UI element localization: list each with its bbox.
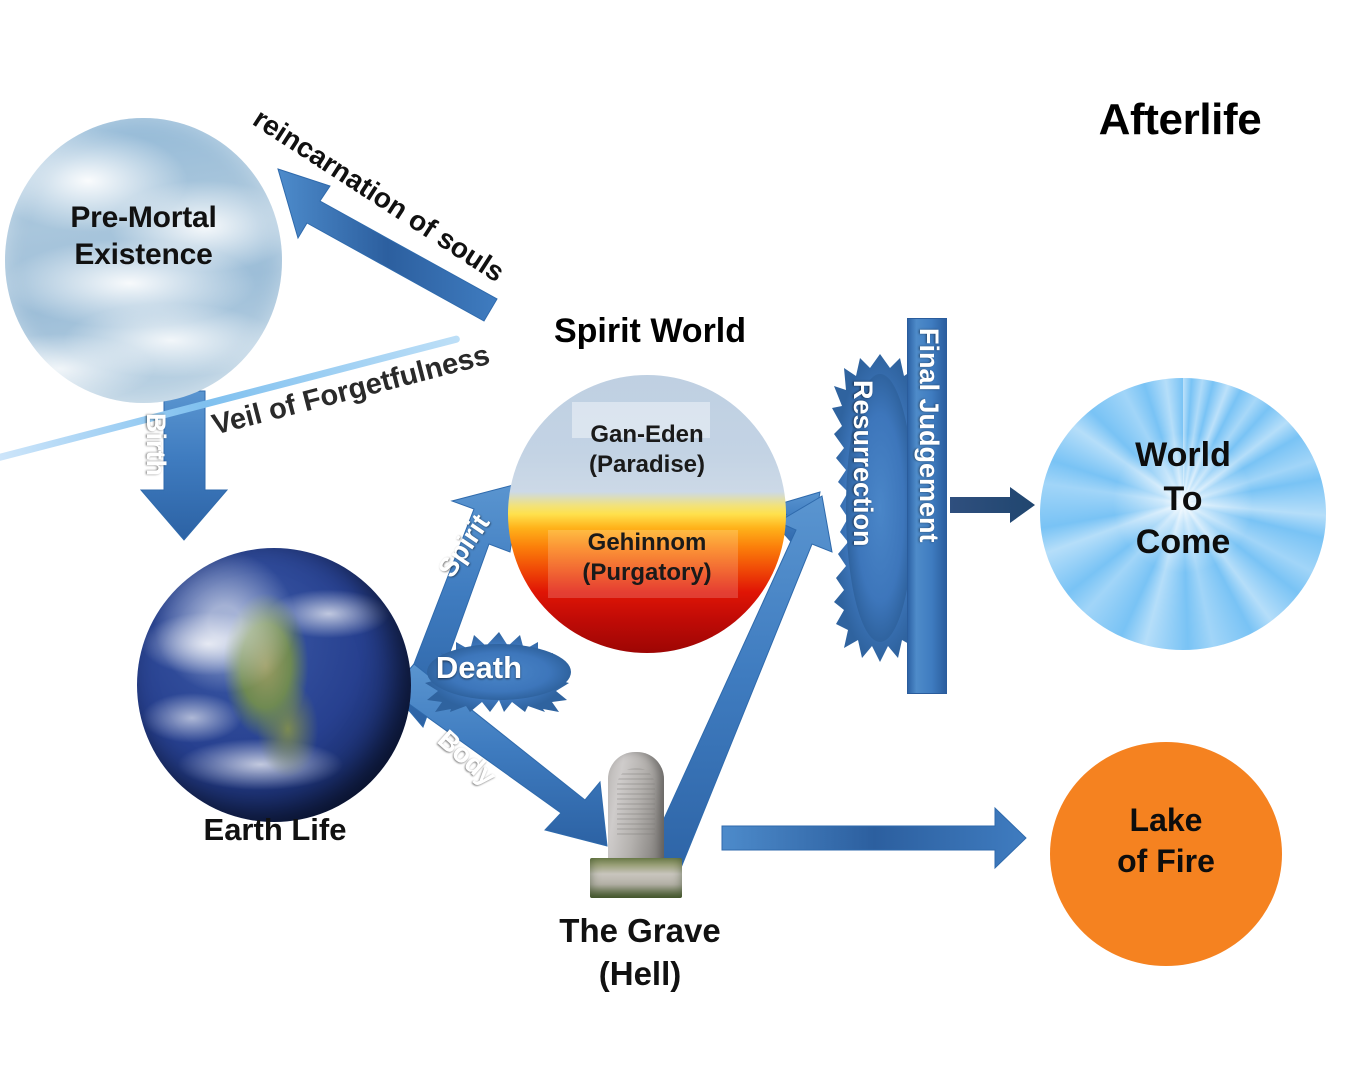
resurrection-label: Resurrection (847, 380, 878, 547)
grave-line-1: The Grave (559, 912, 720, 949)
gehinnom-label: Gehinnom (Purgatory) (527, 528, 767, 588)
world-to-come-label: World To Come (1040, 434, 1326, 565)
spirit-world-heading: Spirit World (470, 312, 830, 351)
world-to-come-line-1: World (1135, 436, 1231, 474)
earth-life-label: Earth Life (110, 812, 440, 848)
premortal-existence-label: Pre-Mortal Existence (5, 200, 282, 273)
gan-eden-label: Gan-Eden (Paradise) (527, 420, 767, 480)
lake-of-fire-line-2: of Fire (1117, 843, 1215, 879)
death-label: Death (404, 650, 554, 686)
gehinnom-line-1: Gehinnom (588, 529, 707, 556)
arrow-to-lake-of-fire (722, 808, 1026, 868)
earth-life-globe (137, 548, 411, 822)
birth-label: Birth (140, 413, 171, 476)
grave-tombstone (586, 752, 696, 892)
final-judgement-label: Final Judgement (913, 328, 944, 543)
lake-of-fire-label: Lake of Fire (1050, 800, 1282, 882)
world-to-come-line-2: To (1163, 480, 1202, 518)
gehinnom-line-2: (Purgatory) (582, 559, 711, 586)
world-to-come-line-3: Come (1136, 523, 1230, 561)
arrow-to-world-to-come (950, 487, 1035, 523)
gan-eden-line-2: (Paradise) (589, 451, 705, 478)
premortal-line-2: Existence (74, 238, 212, 271)
tombstone-icon (608, 752, 664, 864)
gan-eden-line-1: Gan-Eden (590, 421, 703, 448)
tombstone-base (590, 858, 682, 898)
lake-of-fire-line-1: Lake (1130, 802, 1203, 838)
grave-line-2: (Hell) (599, 955, 682, 992)
afterlife-title: Afterlife (1030, 95, 1330, 145)
grave-label: The Grave (Hell) (470, 910, 810, 996)
premortal-line-1: Pre-Mortal (70, 201, 216, 234)
afterlife-diagram-canvas: Pre-Mortal Existence Earth Life Spirit W… (0, 0, 1345, 1082)
